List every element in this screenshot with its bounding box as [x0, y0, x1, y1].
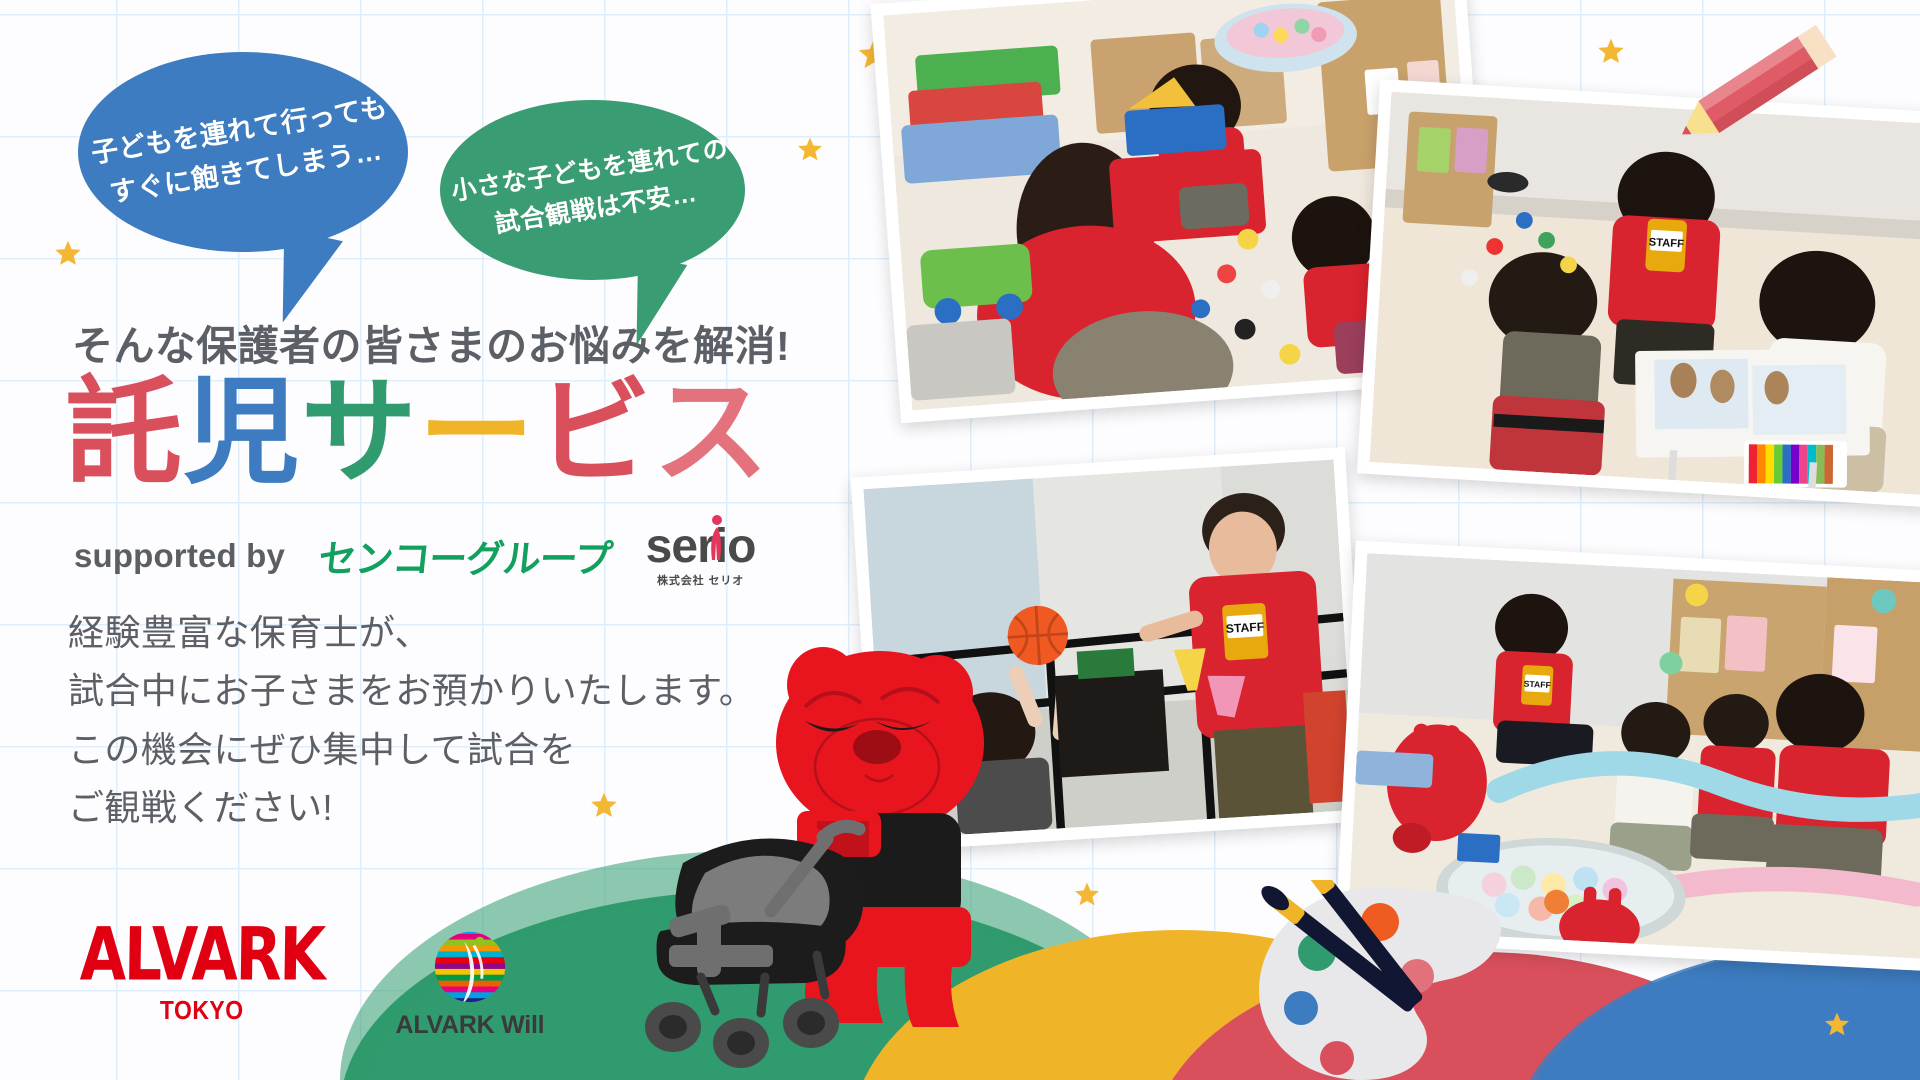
serio-wordmark: serio — [646, 520, 756, 573]
striped-globe-icon — [431, 928, 509, 1006]
serio-logo: serio 株式会社 セリオ — [646, 524, 756, 588]
page-subtitle: そんな保護者の皆さまのお悩みを解消! — [72, 312, 790, 372]
title-char-2: 児 — [183, 374, 300, 490]
alvark-tokyo-city: TOKYO — [160, 995, 244, 1025]
speech-bubble-concern-1: 子どもを連れて行っても すぐに飽きてしまう… — [78, 52, 408, 252]
star-icon — [1822, 1010, 1852, 1040]
title-char-3: サ — [301, 374, 418, 490]
serio-person-icon — [709, 514, 725, 562]
speech-bubble-concern-2: 小さな子どもを連れての 試合観戦は不安… — [440, 100, 745, 280]
alvark-will-logo: ALVARK Will — [396, 928, 545, 1040]
sponsor-logo-row: ALVARK TOKYO — [80, 928, 544, 1040]
star-icon — [1072, 880, 1102, 910]
alvark-tokyo-logo: ALVARK TOKYO — [80, 928, 324, 1024]
svg-text:STAFF: STAFF — [1648, 236, 1684, 250]
poster-canvas: STAFF — [0, 0, 1920, 1080]
title-char-1: 託 — [66, 374, 183, 490]
alvark-will-wordmark: ALVARK Will — [396, 1011, 545, 1040]
title-char-6: ス — [653, 374, 770, 490]
title-char-5: ビ — [536, 374, 653, 490]
supported-by-label: supported by — [74, 537, 285, 575]
pencil-icon — [1660, 22, 1850, 152]
svg-text:STAFF: STAFF — [1523, 679, 1551, 690]
paint-palette-icon — [1245, 880, 1515, 1080]
description-text: 経験豊富な保育士が、 試合中にお子さまをお預かりいたします。 この機会にぜひ集中… — [68, 604, 755, 837]
star-icon — [795, 135, 825, 165]
speech-bubble-text: 小さな子どもを連れての 試合観戦は不安… — [448, 130, 736, 250]
speech-bubble-text: 子どもを連れて行っても すぐに飽きてしまう… — [89, 87, 398, 216]
serio-logo-text: serio — [646, 524, 756, 570]
supported-by-row: supported by センコーグループ serio 株式会社 セリオ — [74, 524, 756, 588]
svg-text:STAFF: STAFF — [1225, 620, 1264, 636]
title-char-4: ー — [418, 374, 535, 490]
star-icon — [1595, 36, 1627, 68]
senko-group-logo: センコーグループ — [316, 528, 614, 583]
page-title: 託児サービス — [66, 374, 770, 490]
alvark-wordmark: ALVARK — [80, 922, 324, 988]
serio-company-name: 株式会社 セリオ — [657, 572, 744, 588]
